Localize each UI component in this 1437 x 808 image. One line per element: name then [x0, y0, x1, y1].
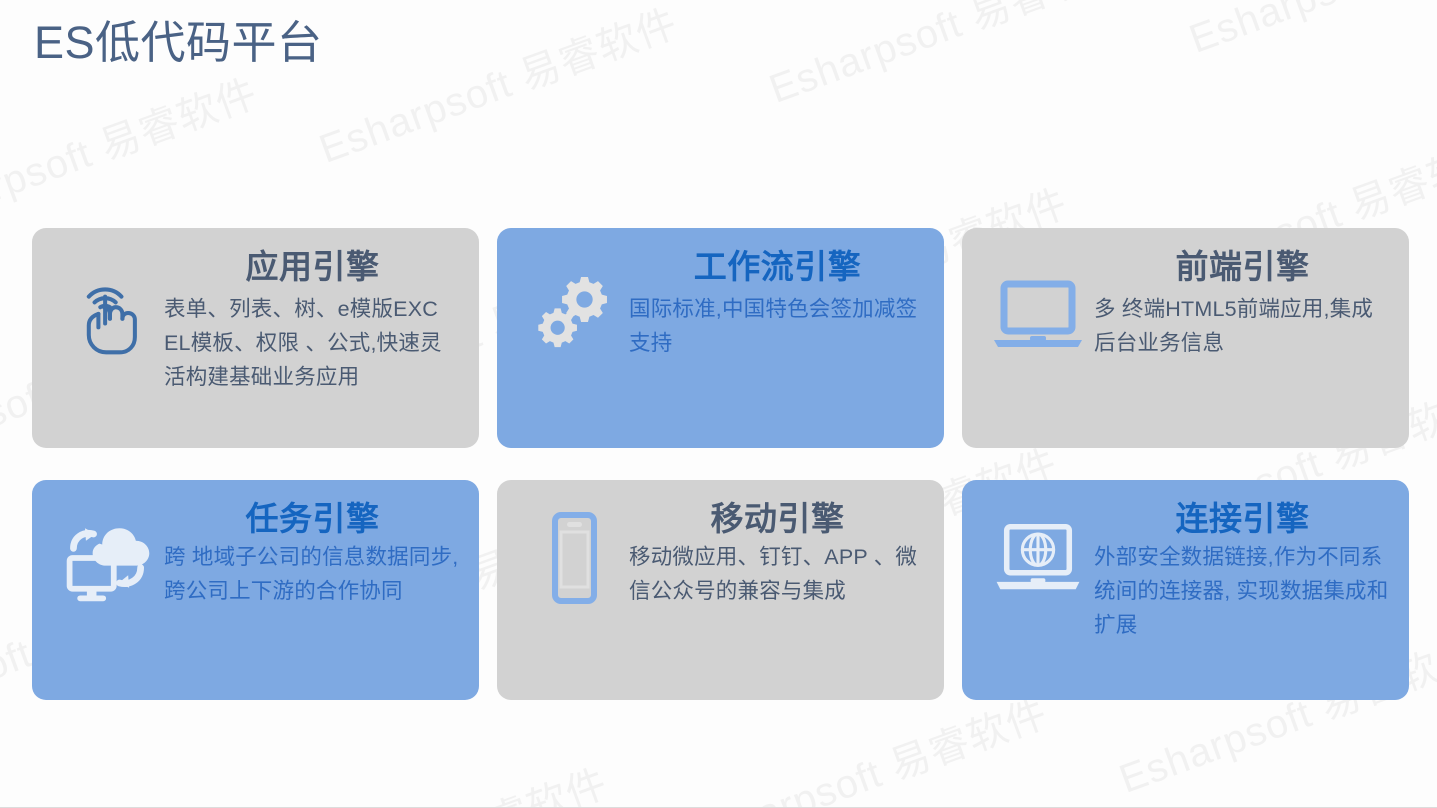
watermark-text: Esharpsoft 易睿软件 — [1180, 0, 1437, 65]
card-mobile-engine[interactable]: 移动引擎 移动微应用、钉钉、APP 、微信公众号的兼容与集成 — [497, 480, 944, 700]
card-description: 外部安全数据链接,作为不同系统间的连接器, 实现数据集成和扩展 — [1094, 541, 1391, 643]
card-workflow-engine[interactable]: 工作流引擎 国际标准,中国特色会签加减签支持 — [497, 228, 944, 448]
watermark-text: Esharpsoft 易睿软件 — [240, 751, 614, 807]
card-description: 表单、列表、树、e模版EXC EL模板、权限 、公式,快速灵 活构建基础业务应用 — [164, 293, 461, 395]
card-body: 应用引擎 表单、列表、树、e模版EXC EL模板、权限 、公式,快速灵 活构建基… — [160, 250, 461, 395]
card-frontend-engine[interactable]: 前端引擎 多 终端HTML5前端应用,集成后台业务信息 — [962, 228, 1409, 448]
page-title: ES低代码平台 — [34, 16, 323, 70]
cloud-sync-monitor-icon — [56, 506, 160, 610]
card-body: 工作流引擎 国际标准,中国特色会签加减签支持 — [625, 250, 926, 361]
card-body: 连接引擎 外部安全数据链接,作为不同系统间的连接器, 实现数据集成和扩展 — [1090, 502, 1391, 643]
card-title: 工作流引擎 — [629, 250, 926, 285]
laptop-globe-icon — [986, 506, 1090, 610]
card-title: 应用引擎 — [164, 250, 461, 285]
watermark-text: Esharpsoft 易睿软件 — [310, 0, 684, 175]
card-app-engine[interactable]: 应用引擎 表单、列表、树、e模版EXC EL模板、权限 、公式,快速灵 活构建基… — [32, 228, 479, 448]
card-title: 移动引擎 — [629, 502, 926, 537]
card-description: 移动微应用、钉钉、APP 、微信公众号的兼容与集成 — [629, 541, 926, 609]
smartphone-icon — [521, 506, 625, 610]
card-description: 跨 地域子公司的信息数据同步,跨公司上下游的合作协同 — [164, 541, 461, 609]
card-task-engine[interactable]: 任务引擎 跨 地域子公司的信息数据同步,跨公司上下游的合作协同 — [32, 480, 479, 700]
card-description: 国际标准,中国特色会签加减签支持 — [629, 293, 926, 361]
slide-canvas: Esharpsoft 易睿软件 Esharpsoft 易睿软件 Esharpso… — [0, 0, 1437, 808]
feature-card-grid: 应用引擎 表单、列表、树、e模版EXC EL模板、权限 、公式,快速灵 活构建基… — [32, 228, 1407, 700]
watermark-text: Esharpsoft 易睿软件 — [760, 0, 1134, 115]
laptop-icon — [986, 260, 1090, 364]
card-title: 前端引擎 — [1094, 250, 1391, 285]
card-body: 前端引擎 多 终端HTML5前端应用,集成后台业务信息 — [1090, 250, 1391, 361]
card-title: 任务引擎 — [164, 502, 461, 537]
watermark-text: Esharpsoft 易睿软件 — [0, 61, 264, 245]
touch-tap-icon — [56, 260, 160, 364]
card-connect-engine[interactable]: 连接引擎 外部安全数据链接,作为不同系统间的连接器, 实现数据集成和扩展 — [962, 480, 1409, 700]
gears-icon — [521, 260, 625, 364]
card-title: 连接引擎 — [1094, 502, 1391, 537]
card-body: 移动引擎 移动微应用、钉钉、APP 、微信公众号的兼容与集成 — [625, 502, 926, 609]
card-body: 任务引擎 跨 地域子公司的信息数据同步,跨公司上下游的合作协同 — [160, 502, 461, 609]
card-description: 多 终端HTML5前端应用,集成后台业务信息 — [1094, 293, 1391, 361]
